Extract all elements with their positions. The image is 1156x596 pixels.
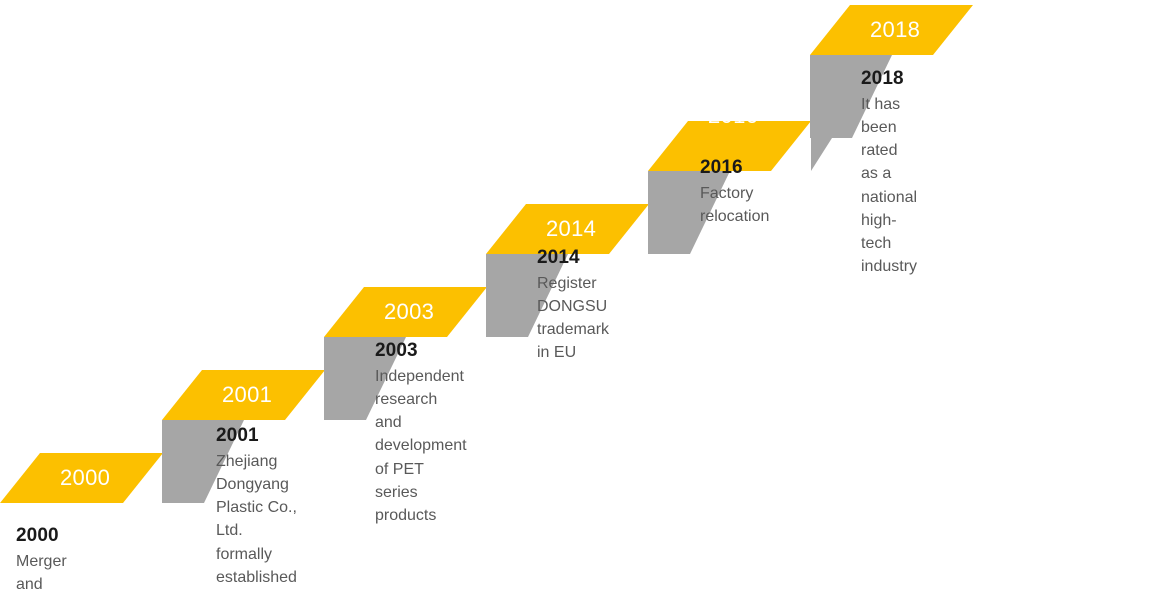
caption-year-2016: 2016 — [700, 157, 769, 179]
step-year-2003: 2003 — [384, 301, 434, 323]
caption-desc-2016: Factory relocation — [700, 182, 769, 228]
step-year-2014: 2014 — [546, 218, 596, 240]
caption-year-2018: 2018 — [861, 68, 917, 90]
caption-2018: 2018 It has been rated as a national hig… — [861, 68, 917, 278]
caption-desc-2018: It has been rated as a national high-tec… — [861, 93, 917, 279]
timeline-diagram: 2000 2000 Merger and acquisition of Dong… — [0, 0, 1156, 596]
caption-year-2001: 2001 — [216, 425, 297, 447]
caption-2016: 2016 Factory relocation — [700, 157, 769, 228]
step-year-2016: 2016 — [708, 105, 758, 127]
caption-year-2003: 2003 — [375, 340, 467, 362]
caption-desc-2001: Zhejiang Dongyang Plastic Co., Ltd. form… — [216, 450, 297, 589]
caption-2000: 2000 Merger and acquisition of Dongyang … — [16, 525, 92, 596]
caption-desc-2014: Register DONGSU trademark in EU — [537, 272, 609, 365]
step-year-2018: 2018 — [870, 19, 920, 41]
caption-2001: 2001 Zhejiang Dongyang Plastic Co., Ltd.… — [216, 425, 297, 589]
step-year-2001: 2001 — [222, 384, 272, 406]
caption-desc-2000: Merger and acquisition of Dongyang Plast… — [16, 550, 92, 596]
caption-2014: 2014 Register DONGSU trademark in EU — [537, 247, 609, 365]
caption-2003: 2003 Independent research and developmen… — [375, 340, 467, 527]
caption-year-2014: 2014 — [537, 247, 609, 269]
step-year-2000: 2000 — [60, 467, 110, 489]
caption-year-2000: 2000 — [16, 525, 92, 547]
caption-desc-2003: Independent research and development of … — [375, 365, 467, 527]
